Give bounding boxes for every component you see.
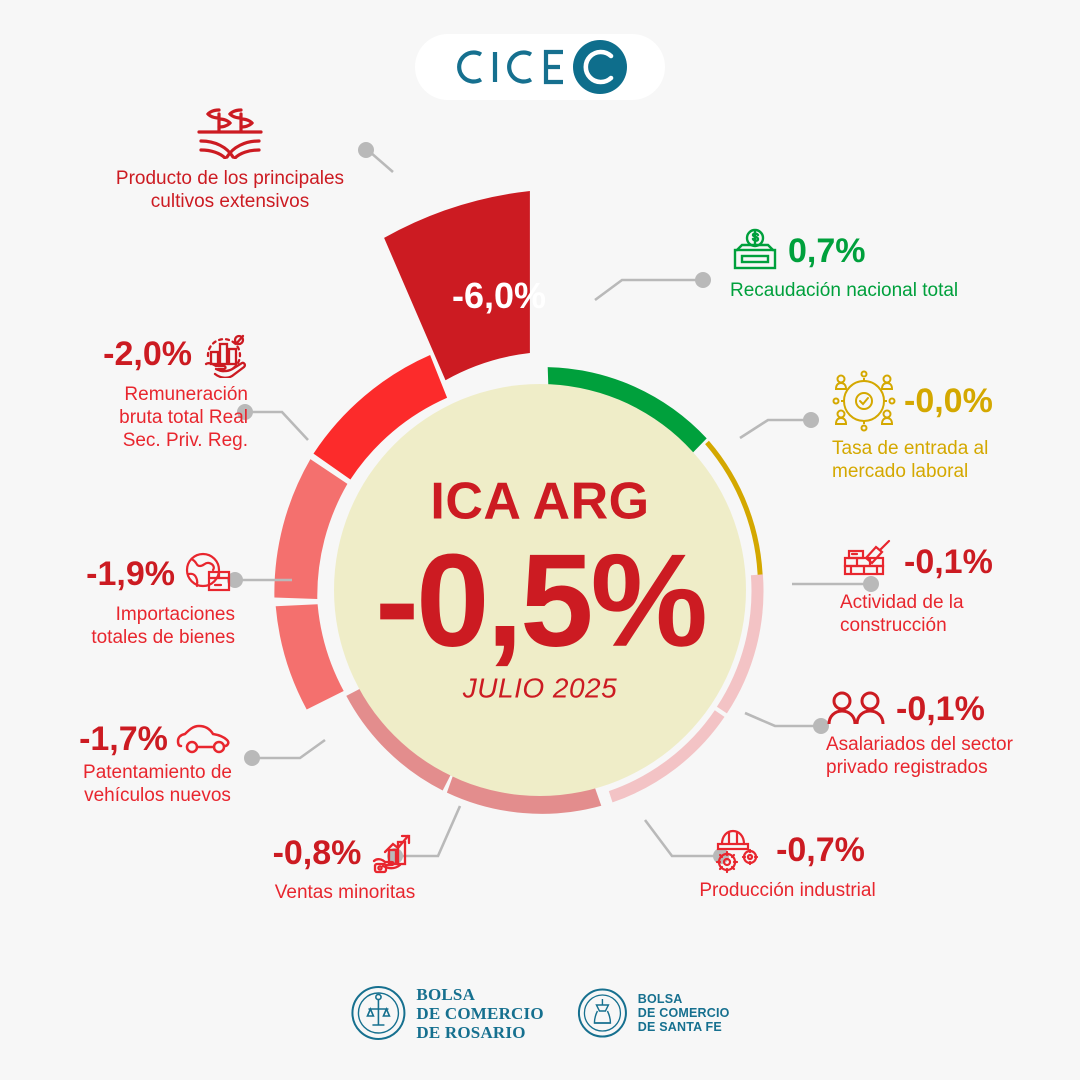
logo-bolsa-rosario[interactable]: BOLSA DE COMERCIO DE ROSARIO <box>350 985 543 1042</box>
item-ventas-row: -0,8% <box>230 830 460 876</box>
item-asalariados-value: -0,1% <box>896 692 985 726</box>
item-tasa-entrada-value: -0,0% <box>904 384 993 418</box>
rosario-seal-icon <box>350 985 406 1041</box>
santafe-seal-icon <box>578 988 628 1038</box>
donut-center-disc <box>334 384 746 796</box>
item-remuneracion-value: -2,0% <box>103 337 192 371</box>
item-remuneracion-row: -2,0% <box>38 330 248 378</box>
rosario-line-2: DE COMERCIO <box>416 1004 543 1023</box>
santafe-line-3: DE SANTA FE <box>638 1020 730 1034</box>
item-tasa-entrada[interactable]: -0,0% Tasa de entrada al mercado laboral <box>832 370 1042 483</box>
wedge-value-cultivos: -6,0% <box>452 275 546 317</box>
item-patentamiento-value: -1,7% <box>79 722 168 756</box>
santafe-line-1: BOLSA <box>638 992 730 1006</box>
item-tasa-entrada-row: -0,0% <box>832 370 1042 432</box>
item-tasa-entrada-caption: Tasa de entrada al mercado laboral <box>832 437 1042 483</box>
item-cultivos[interactable]: Producto de los principales cultivos ext… <box>110 105 350 213</box>
item-produccion[interactable]: -0,7% Producción industrial <box>690 826 885 902</box>
infographic-canvas: -6,0% ICA ARG -0,5% JULIO 2025 Producto … <box>0 0 1080 1080</box>
item-construccion-value: -0,1% <box>904 545 993 579</box>
logo-bolsa-santafe[interactable]: BOLSA DE COMERCIO DE SANTA FE <box>578 988 730 1038</box>
item-ventas-value: -0,8% <box>273 836 362 870</box>
santafe-line-2: DE COMERCIO <box>638 1006 730 1020</box>
tax-box-icon <box>730 228 780 274</box>
rosario-line-1: BOLSA <box>416 985 543 1004</box>
item-ventas-caption: Ventas minoritas <box>230 881 460 904</box>
crops-icon <box>193 105 267 159</box>
item-patentamiento-caption: Patentamiento de vehículos nuevos <box>60 761 255 807</box>
item-construccion-row: -0,1% <box>840 538 1040 586</box>
rosario-line-3: DE ROSARIO <box>416 1023 543 1042</box>
brick-trowel-icon <box>840 538 896 586</box>
item-asalariados-caption: Asalariados del sector privado registrad… <box>826 733 1036 779</box>
item-recaudacion-row: 0,7% <box>730 228 980 274</box>
item-remuneracion-caption: Remuneración bruta total Real Sec. Priv.… <box>38 383 248 453</box>
retail-hand-chart-icon <box>369 830 417 876</box>
item-produccion-value: -0,7% <box>776 833 865 867</box>
labor-network-icon <box>832 370 896 432</box>
car-icon <box>176 722 236 756</box>
item-cultivos-caption: Producto de los principales cultivos ext… <box>110 167 350 213</box>
two-people-icon <box>826 690 888 728</box>
item-construccion[interactable]: -0,1% Actividad de la construcción <box>840 538 1040 637</box>
item-importaciones-caption: Importaciones totales de bienes <box>40 603 235 649</box>
item-asalariados[interactable]: -0,1% Asalariados del sector privado reg… <box>826 690 1036 779</box>
item-recaudacion[interactable]: 0,7% Recaudación nacional total <box>730 228 980 302</box>
santafe-logo-text: BOLSA DE COMERCIO DE SANTA FE <box>638 992 730 1034</box>
item-importaciones-value: -1,9% <box>86 557 175 591</box>
item-recaudacion-caption: Recaudación nacional total <box>730 279 980 302</box>
item-importaciones[interactable]: -1,9% Importaciones totales de bienes <box>40 550 235 649</box>
globe-package-icon <box>183 550 235 598</box>
item-patentamiento[interactable]: -1,7% Patentamiento de vehículos nuevos <box>60 722 255 807</box>
item-recaudacion-value: 0,7% <box>788 234 866 268</box>
item-asalariados-row: -0,1% <box>826 690 1036 728</box>
footer-logos: BOLSA DE COMERCIO DE ROSARIO BOLSA DE CO… <box>350 985 729 1042</box>
item-importaciones-row: -1,9% <box>40 550 235 598</box>
item-cultivos-row <box>110 105 350 159</box>
item-remuneracion[interactable]: -2,0% Remuneración bruta total Real Sec.… <box>38 330 248 453</box>
item-construccion-caption: Actividad de la construcción <box>840 591 1040 637</box>
item-produccion-row: -0,7% <box>690 826 885 874</box>
rosario-logo-text: BOLSA DE COMERCIO DE ROSARIO <box>416 985 543 1042</box>
item-produccion-caption: Producción industrial <box>690 879 885 902</box>
wage-chart-hand-icon <box>200 330 248 378</box>
hardhat-gears-icon <box>710 826 768 874</box>
item-ventas[interactable]: -0,8% Ventas minoritas <box>230 830 460 904</box>
item-patentamiento-row: -1,7% <box>60 722 255 756</box>
